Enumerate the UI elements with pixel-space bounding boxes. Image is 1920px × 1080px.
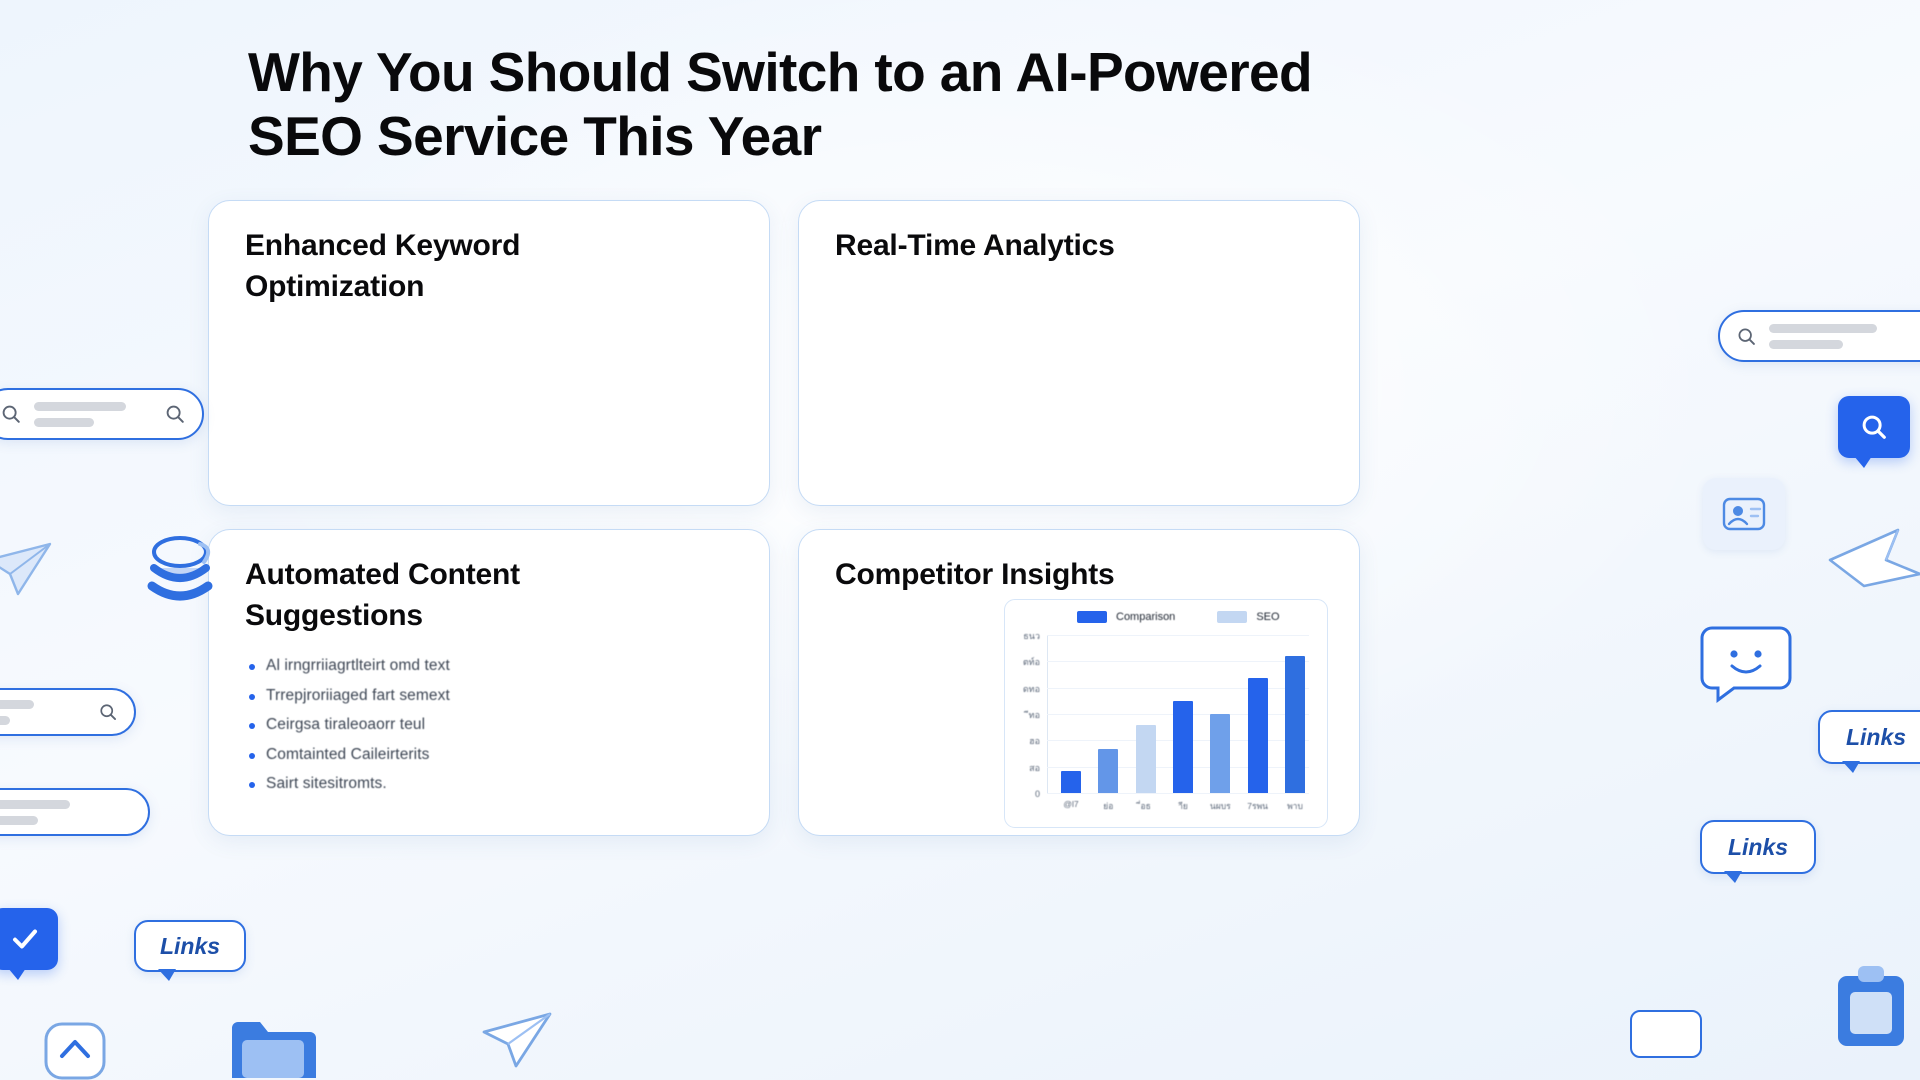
list-item-label: Trrepjroriiaged fart semext xyxy=(266,686,450,706)
links-badge-bottom-left[interactable]: Links xyxy=(134,920,246,972)
links-badge-label: Links xyxy=(160,933,220,960)
checkmark-badge[interactable] xyxy=(0,908,58,970)
bullet-dot-icon xyxy=(249,782,255,788)
card-title-enhanced-keyword-optimization: Enhanced Keyword Optimization xyxy=(245,225,648,308)
list-item: Al irngrriiagrtlteirt omd text xyxy=(249,656,499,676)
bar-column[interactable]: ย่อ xyxy=(1098,636,1118,793)
search-bar-left-middle[interactable] xyxy=(0,688,136,736)
send-icon xyxy=(480,1008,558,1072)
legend-label-comparison: Comparison xyxy=(1116,611,1175,623)
y-axis-tick-label: ฮอ xyxy=(1029,734,1040,748)
chart-bars: @l7ย่อี่อธาียนผบร7รพนพาบ xyxy=(1061,636,1305,793)
bar-column[interactable]: ี่อธ xyxy=(1136,636,1156,793)
links-badge-label: Links xyxy=(1728,834,1788,861)
layers-icon xyxy=(140,530,220,614)
y-axis-tick-label: ดทอ xyxy=(1023,682,1040,696)
content-suggestion-list: Al irngrriiagrtlteirt omd text Trrepjror… xyxy=(249,656,499,804)
bar xyxy=(1285,656,1305,793)
y-axis-tick-label: ธนว xyxy=(1023,629,1040,643)
placeholder-lines xyxy=(0,800,70,825)
bar xyxy=(1098,749,1118,793)
folder-icon xyxy=(228,1014,318,1080)
x-axis-tick-label: ี่อธ xyxy=(1141,799,1151,813)
folder-icon-deco xyxy=(228,1014,318,1080)
list-item: Comtainted Caileirterits xyxy=(249,745,499,765)
cursor-arrow xyxy=(1824,518,1920,596)
list-item: Ceirgsa tiraleoaorr teul xyxy=(249,715,499,735)
bullet-dot-icon xyxy=(249,694,255,700)
paper-plane xyxy=(480,1008,558,1072)
legend-item-seo: SEO xyxy=(1217,611,1279,623)
card-enhanced-keyword-optimization[interactable]: Enhanced Keyword Optimization xyxy=(208,200,770,506)
competitor-bar-chart[interactable]: Comparison SEO 0สอฮอีทอดทอตท์อธนว @l7ย่อ… xyxy=(1004,599,1328,828)
search-bar-left-lower[interactable] xyxy=(0,788,150,836)
bar-column[interactable]: นผบร xyxy=(1210,636,1230,793)
legend-item-comparison: Comparison xyxy=(1077,611,1175,623)
links-badge-label: Links xyxy=(1846,724,1906,751)
legend-swatch-seo xyxy=(1217,611,1247,623)
y-axis-tick-label: 0 xyxy=(1035,789,1040,799)
card-competitor-insights[interactable]: Competitor Insights Comparison SEO 0สอฮอ… xyxy=(798,529,1360,836)
smiley-icon xyxy=(1700,622,1792,704)
bar-column[interactable]: @l7 xyxy=(1061,636,1081,793)
search-icon xyxy=(1736,326,1757,347)
y-axis xyxy=(1047,636,1048,794)
clipboard-icon xyxy=(1830,962,1918,1052)
page-title: Why You Should Switch to an AI-Powered S… xyxy=(248,40,1428,169)
x-axis-tick-label: พาบ xyxy=(1287,799,1303,813)
bar-column[interactable]: าีย xyxy=(1173,636,1193,793)
y-axis-tick-label: สอ xyxy=(1029,761,1040,775)
smiley-chat-icon[interactable] xyxy=(1700,622,1792,704)
send-icon xyxy=(0,540,58,602)
check-icon xyxy=(10,924,40,954)
x-axis-tick-label: าีย xyxy=(1178,799,1188,813)
bar-column[interactable]: พาบ xyxy=(1285,636,1305,793)
y-axis-tick-label: ตท์อ xyxy=(1023,655,1040,669)
list-item-label: Sairt sitesitromts. xyxy=(266,774,387,794)
x-axis-tick-label: 7รพน xyxy=(1247,799,1268,813)
search-icon xyxy=(164,403,186,425)
legend-label-seo: SEO xyxy=(1256,611,1279,623)
bar xyxy=(1248,678,1268,793)
paper-plane xyxy=(0,540,58,602)
bullet-dot-icon xyxy=(249,723,255,729)
bar xyxy=(1173,701,1193,793)
bar xyxy=(1136,725,1156,793)
search-icon xyxy=(0,403,22,425)
placeholder-lines xyxy=(34,402,126,427)
bullet-dot-icon xyxy=(249,664,255,670)
blank-tag-badge xyxy=(1630,1010,1702,1058)
y-axis-tick-label: ีทอ xyxy=(1029,708,1040,722)
list-item-label: Comtainted Caileirterits xyxy=(266,745,430,765)
list-item-label: Ceirgsa tiraleoaorr teul xyxy=(266,715,425,735)
page-title-line2: SEO Service This Year xyxy=(248,104,1428,168)
card-real-time-analytics[interactable]: Real-Time Analytics xyxy=(798,200,1360,506)
upload-chevron xyxy=(42,1018,108,1080)
bar-column[interactable]: 7รพน xyxy=(1248,636,1268,793)
bar xyxy=(1210,714,1230,793)
layers-stack xyxy=(140,530,220,614)
list-item-label: Al irngrriiagrtlteirt omd text xyxy=(266,656,450,676)
search-bar-right-top[interactable] xyxy=(1718,310,1920,362)
placeholder-lines xyxy=(0,700,34,725)
x-axis-tick-label: นผบร xyxy=(1210,799,1231,813)
chart-plot-area: 0สอฮอีทอดทอตท์อธนว @l7ย่อี่อธาียนผบร7รพน… xyxy=(1047,636,1309,794)
cursor-icon xyxy=(1824,518,1920,596)
card-title-real-time-analytics: Real-Time Analytics xyxy=(835,225,1238,266)
chart-legend: Comparison SEO xyxy=(1077,611,1280,623)
search-icon xyxy=(1859,412,1889,442)
list-item: Sairt sitesitromts. xyxy=(249,774,499,794)
card-title-automated-content-suggestions: Automated Content Suggestions xyxy=(245,554,648,637)
legend-swatch-comparison xyxy=(1077,611,1107,623)
contact-tile[interactable] xyxy=(1703,478,1785,550)
search-pin-badge[interactable] xyxy=(1838,396,1910,458)
bar xyxy=(1061,771,1081,793)
placeholder-lines xyxy=(1769,324,1877,349)
links-badge-right-lower[interactable]: Links xyxy=(1818,710,1920,764)
search-icon xyxy=(98,702,118,722)
links-badge-right-upper[interactable]: Links xyxy=(1700,820,1816,874)
gridline xyxy=(1047,793,1309,794)
chevron-up-icon xyxy=(42,1018,108,1080)
x-axis-tick-label: @l7 xyxy=(1063,799,1078,809)
page-title-line1: Why You Should Switch to an AI-Powered xyxy=(248,41,1312,103)
search-bar-left-upper[interactable] xyxy=(0,388,204,440)
clipboard-icon-deco xyxy=(1830,962,1918,1052)
bullet-dot-icon xyxy=(249,753,255,759)
card-title-competitor-insights: Competitor Insights xyxy=(835,554,1238,595)
list-item: Trrepjroriiaged fart semext xyxy=(249,686,499,706)
card-automated-content-suggestions[interactable]: Automated Content Suggestions Al irngrri… xyxy=(208,529,770,836)
user-card-icon xyxy=(1722,495,1766,533)
robot-illustration xyxy=(695,447,770,506)
x-axis-tick-label: ย่อ xyxy=(1103,799,1113,813)
